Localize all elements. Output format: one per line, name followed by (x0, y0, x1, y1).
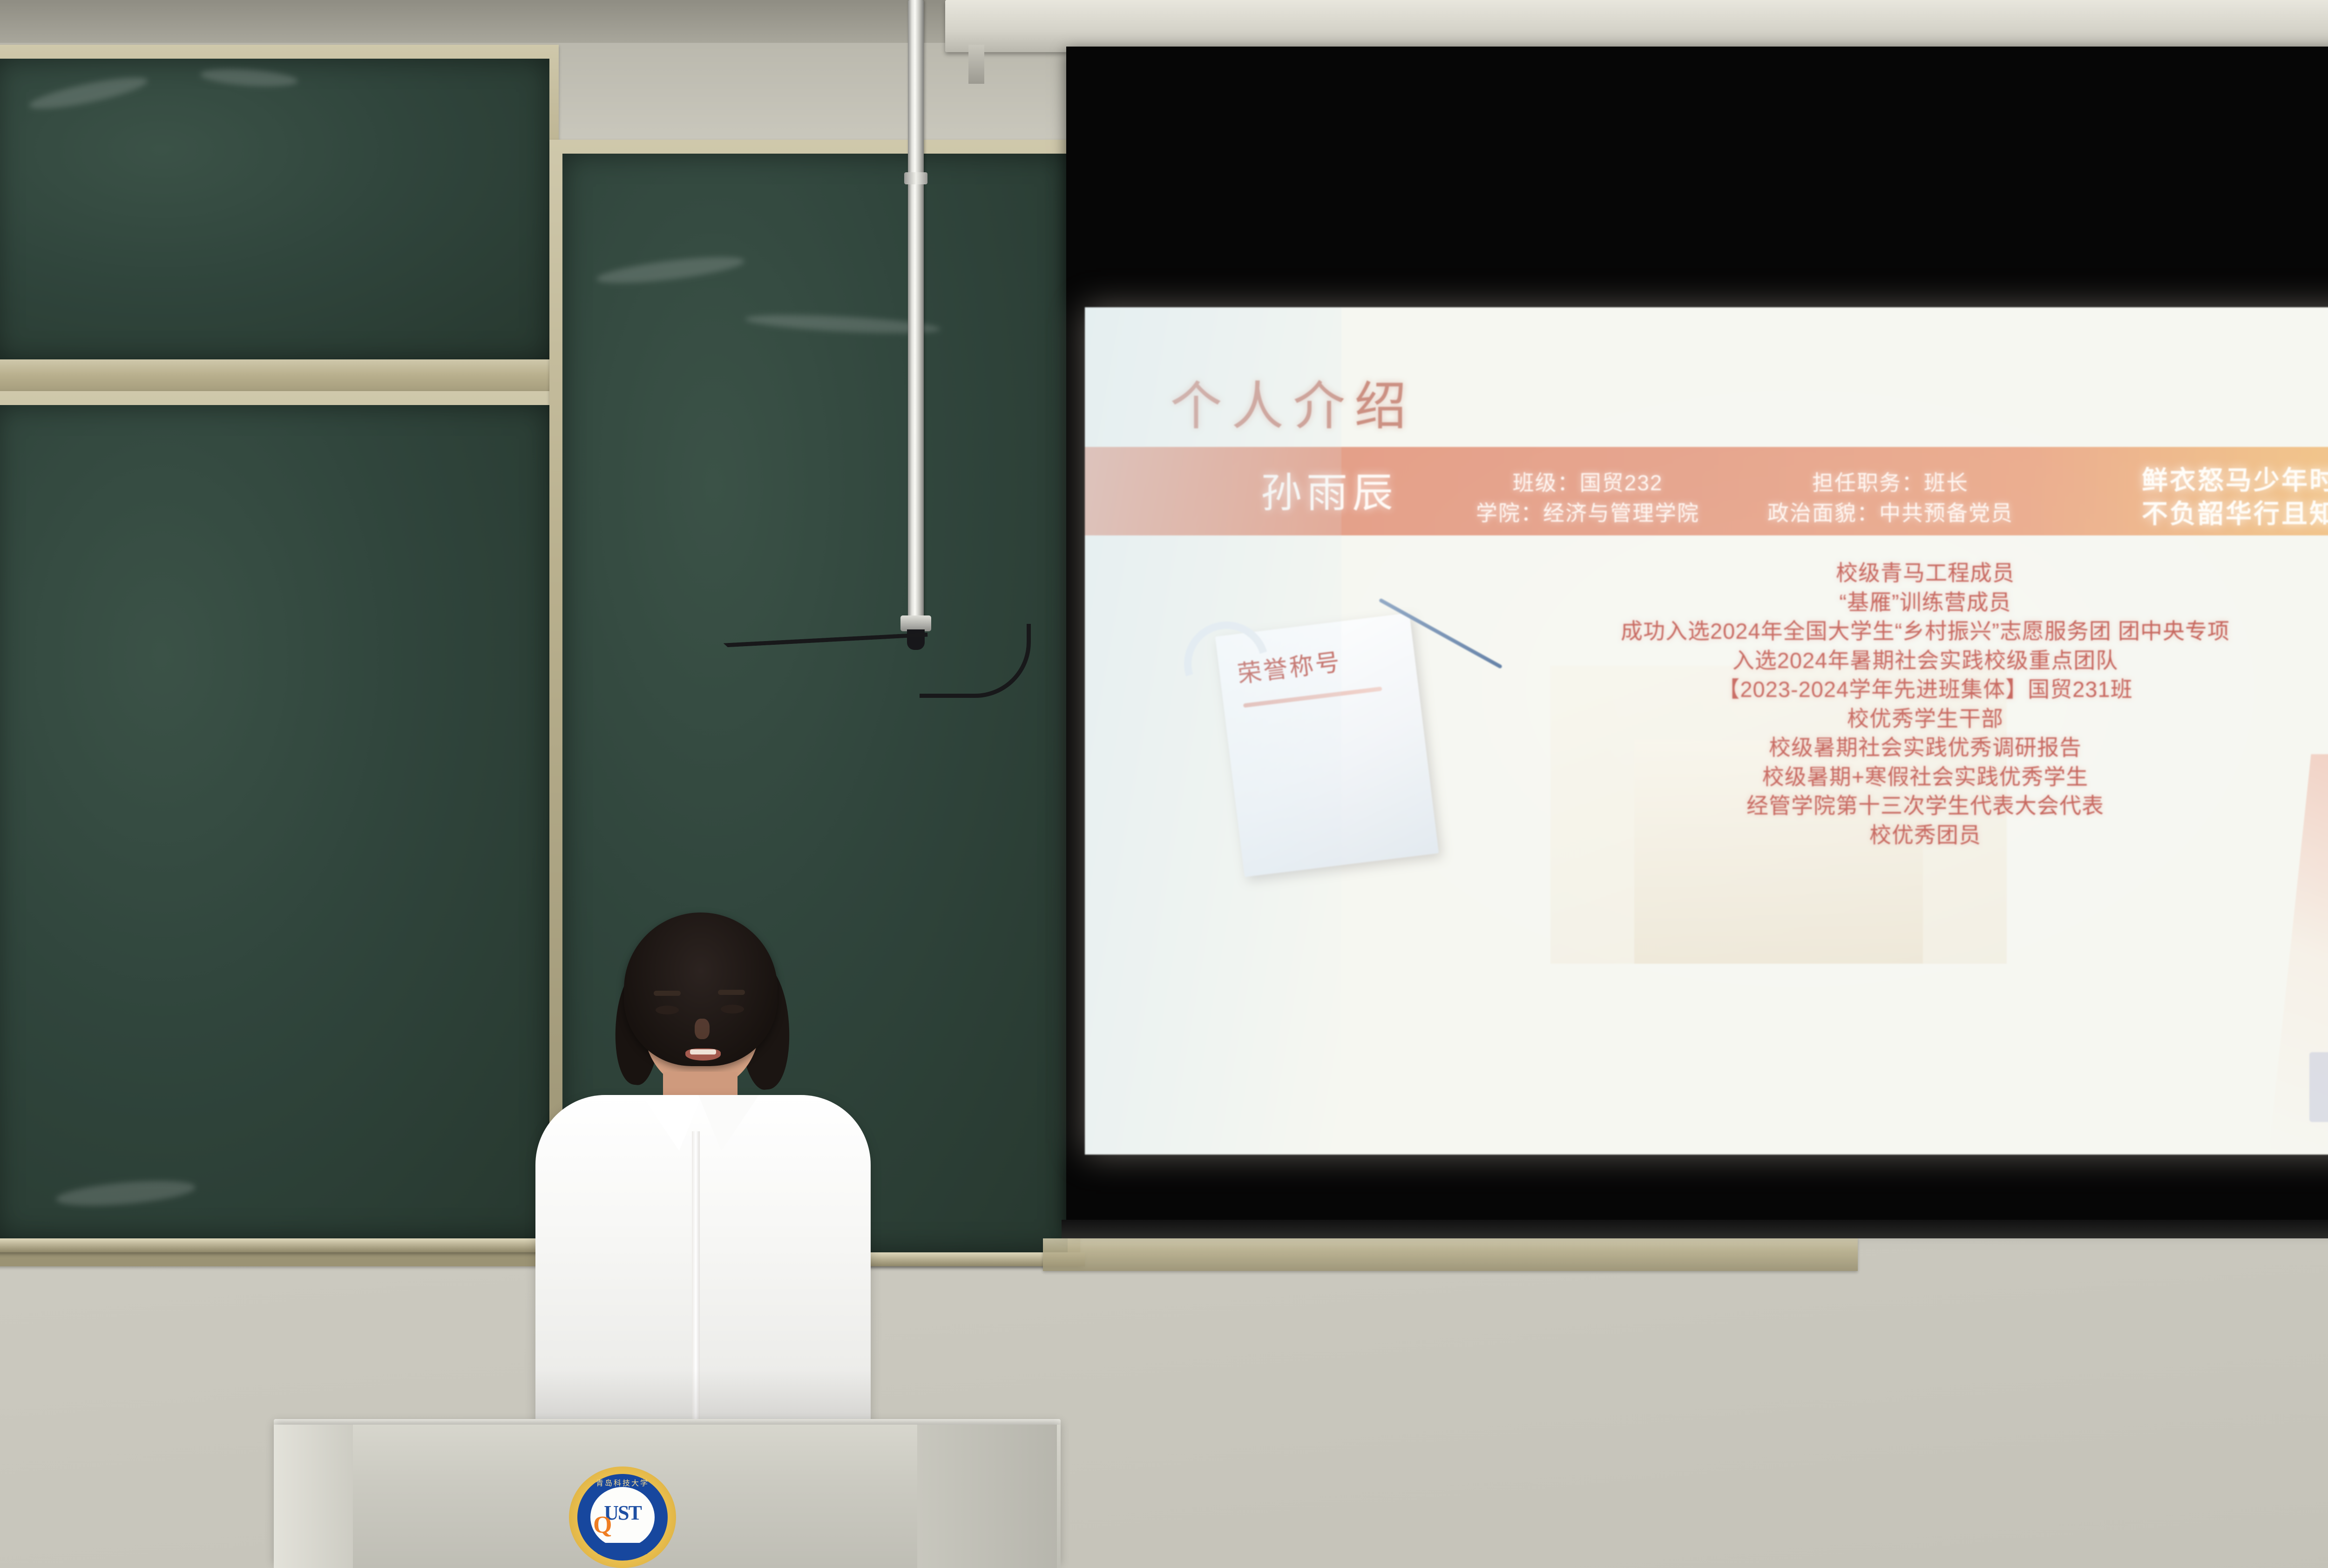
teeth (690, 1049, 716, 1054)
eye-left (656, 1006, 679, 1014)
screen-bracket-left (968, 45, 984, 84)
podium-right-panel (917, 1425, 1057, 1568)
slide-watermark-badge (2309, 1052, 2328, 1122)
student-name: 孙雨辰 (1199, 460, 1460, 519)
profile-class: 班级：国贸232 (1457, 468, 1718, 498)
slide-motto: 鲜衣怒马少年时 不负韶华行且知 (2095, 464, 2328, 530)
classroom-scene: ✦ ✧ 个人介绍 孙雨辰 班级：国贸232 学院：经济与管理学院 担任职务：班长… (0, 0, 2328, 1568)
motto-line-1: 鲜衣怒马少年时 (2095, 464, 2328, 497)
honor-item: 成功入选2024年全国大学生“乡村振兴”志愿服务团 团中央专项 (1406, 617, 2328, 646)
chalk-tray-left (0, 1238, 559, 1252)
hair-top (624, 912, 778, 1066)
podium-left-panel (274, 1425, 353, 1568)
projection-screen-housing (945, 0, 2328, 52)
blackboard-frame-behind-screen (1043, 1238, 1858, 1271)
profile-column-role: 担任职务：班长 政治面貌：中共预备党员 (1746, 468, 2035, 529)
presentation-slide: ✦ ✧ 个人介绍 孙雨辰 班级：国贸232 学院：经济与管理学院 担任职务：班长… (1085, 307, 2328, 1155)
blackboard-surface-top-left (0, 59, 549, 361)
logo-chinese-name: 青岛科技大学 (569, 1477, 676, 1488)
honor-item: “基雁”训练营成员 (1406, 588, 2328, 617)
presenter-person (508, 912, 889, 1439)
eyebrow-left (654, 991, 681, 996)
microphone-pole-collar (904, 172, 927, 184)
honor-item: 经管学院第十三次学生代表大会代表 (1406, 791, 2328, 821)
logo-bottom-band (598, 1543, 647, 1554)
eye-right (721, 1005, 744, 1014)
nose (695, 1019, 710, 1039)
profile-college: 学院：经济与管理学院 (1457, 498, 1718, 528)
logo-q-letter: Q (593, 1511, 612, 1539)
honor-item: 校级暑期+寒假社会实践优秀学生 (1406, 763, 2328, 792)
profile-column-class: 班级：国贸232 学院：经济与管理学院 (1457, 468, 1718, 529)
honor-item: 校级青马工程成员 (1406, 559, 2328, 588)
motto-line-2: 不负韶华行且知 (2095, 497, 2328, 531)
honor-item: 校优秀学生干部 (1406, 704, 2328, 734)
honor-item: 校级暑期社会实践优秀调研报告 (1406, 733, 2328, 763)
logo-acronym: UST (569, 1501, 676, 1525)
eyebrow-right (718, 990, 745, 995)
honor-item: 【2023-2024学年先进班集体】国贸231班 (1406, 675, 2328, 704)
honor-scroll-graphic: 荣誉称号 (1215, 613, 1439, 877)
honor-item: 入选2024年暑期社会实践校级重点团队 (1406, 646, 2328, 676)
profile-political-status: 政治面貌：中共预备党员 (1746, 498, 2035, 528)
honors-list: 校级青马工程成员 “基雁”训练营成员 成功入选2024年全国大学生“乡村振兴”志… (1406, 559, 2328, 850)
honor-item: 校优秀团员 (1406, 821, 2328, 850)
profile-position: 担任职务：班长 (1746, 468, 2035, 498)
projection-screen-bottom-bar (1062, 1220, 2328, 1238)
blackboard-surface-bottom-left (0, 405, 549, 1238)
university-logo: 青岛科技大学 UST Q (569, 1467, 676, 1568)
microphone-pole (908, 0, 924, 624)
slide-title: 个人介绍 (1170, 364, 1416, 439)
